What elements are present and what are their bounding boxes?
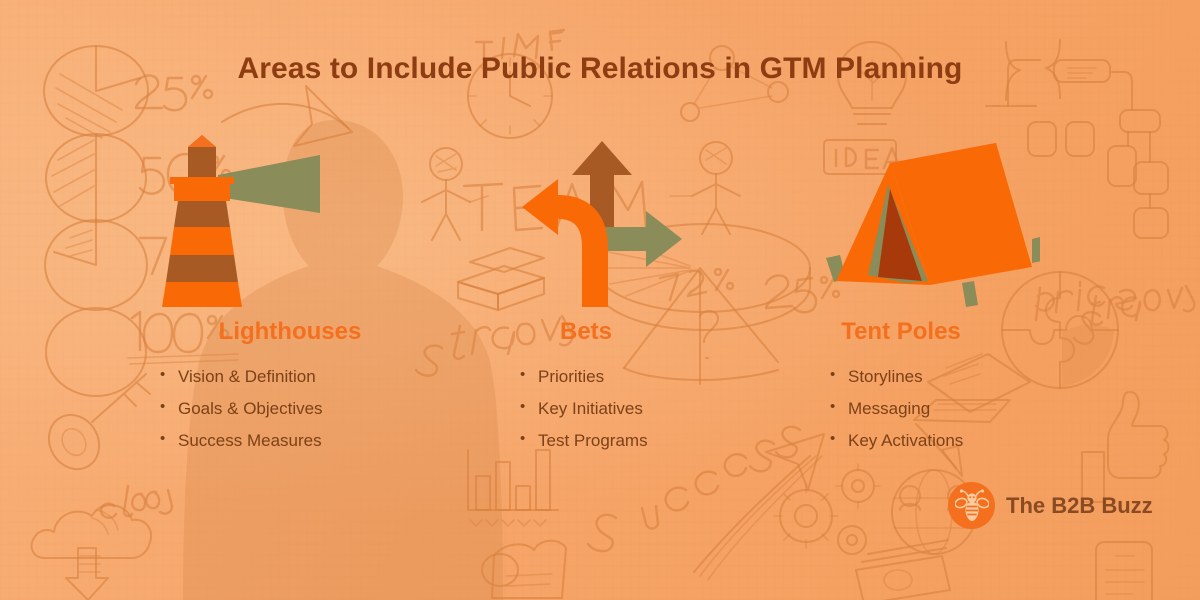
list-item: Goals & Objectives [160,400,460,417]
cloud-download-sketch [32,486,172,600]
infographic-canvas: Areas to Include Public Relations in GTM… [0,0,1200,600]
column-bets: Bets Priorities Key Initiatives Test Pro… [480,130,810,464]
list-item: Messaging [830,400,1130,417]
page-title: Areas to Include Public Relations in GTM… [0,52,1200,86]
columns-container: Lighthouses Vision & Definition Goals & … [0,130,1200,460]
column-tent-poles: Tent Poles Storylines Messaging Key Acti… [800,130,1130,464]
list-item: Priorities [520,368,810,385]
bee-icon [948,482,995,529]
brand-name: The B2B Buzz [1006,493,1153,519]
lighthouse-icon [160,135,360,310]
column-title-tent-poles: Tent Poles [800,318,1130,346]
list-item: Vision & Definition [160,368,460,385]
three-way-arrow-icon-wrap [480,130,810,310]
list-item: Key Activations [830,432,1130,449]
tent-icon-wrap [800,130,1130,310]
tent-icon [810,135,1040,310]
gears-sketch [774,464,880,554]
column-lighthouses: Lighthouses Vision & Definition Goals & … [130,130,460,464]
bullet-list-tent-poles: Storylines Messaging Key Activations [800,368,1130,449]
list-item: Key Initiatives [520,400,810,417]
three-way-arrow-icon [520,135,690,310]
list-item: Test Programs [520,432,810,449]
column-title-lighthouses: Lighthouses [130,318,460,346]
column-title-bets: Bets [480,318,810,346]
bullet-list-bets: Priorities Key Initiatives Test Programs [480,368,810,449]
brand-logo[interactable]: The B2B Buzz [948,482,1153,529]
list-item: Storylines [830,368,1130,385]
phone-sketch [1096,542,1152,600]
lighthouse-icon-wrap [130,130,460,310]
bullet-list-lighthouses: Vision & Definition Goals & Objectives S… [130,368,460,449]
list-item: Success Measures [160,432,460,449]
money-sketch [856,540,950,600]
